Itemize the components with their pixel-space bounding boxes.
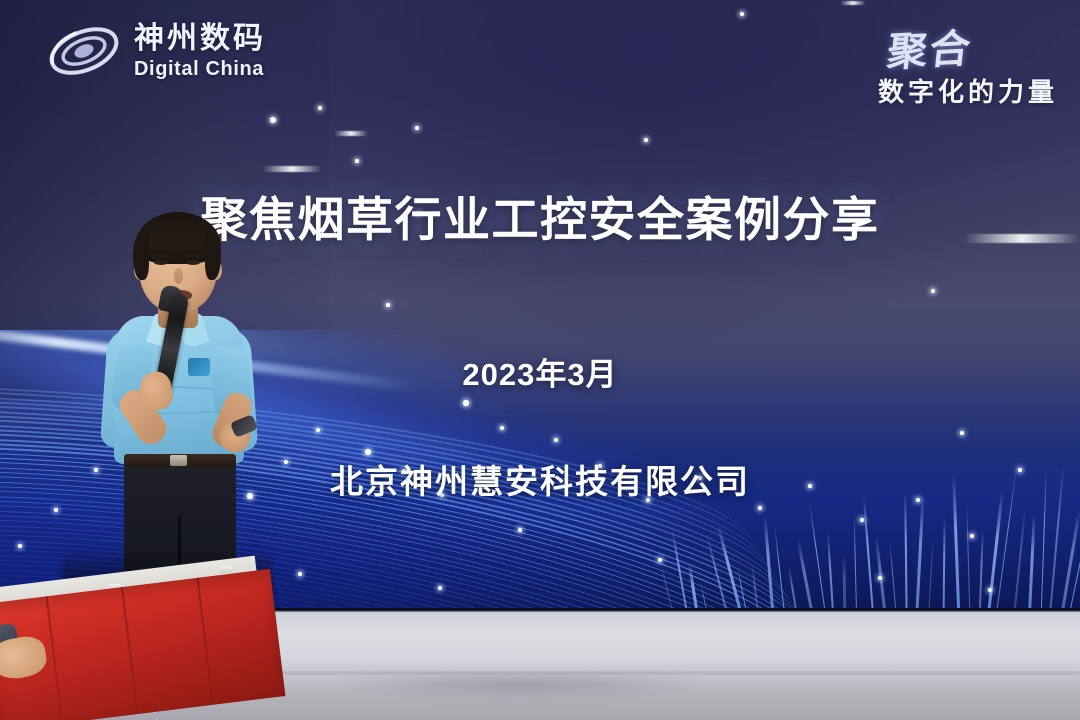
- light-particle: [365, 449, 371, 455]
- light-particle: [355, 159, 358, 162]
- presenter-right-eye: [186, 260, 200, 265]
- light-particle: [298, 572, 302, 576]
- presenter-left-eye: [154, 260, 168, 265]
- conference-stage-photo: 神州数码 Digital China 聚合 数字化的力量 聚焦烟草行业工控安全案…: [0, 0, 1080, 720]
- presenter-hair-right: [205, 232, 221, 280]
- light-particle: [878, 576, 882, 580]
- polo-chest-logo: [188, 358, 210, 376]
- digital-china-name-en: Digital China: [134, 59, 266, 79]
- light-streak: [840, 1, 866, 5]
- light-particle: [463, 400, 468, 405]
- presenter-hair-left: [133, 232, 149, 280]
- light-particle: [18, 544, 22, 548]
- light-particle: [644, 138, 648, 142]
- light-particle: [554, 438, 558, 442]
- light-particle: [318, 106, 322, 110]
- presenter-nose: [174, 268, 183, 284]
- light-particle: [518, 528, 522, 532]
- skirt-pleat: [46, 596, 64, 720]
- skirt-pleat: [121, 587, 139, 714]
- floor-smudge: [330, 674, 710, 700]
- light-particle: [386, 303, 389, 306]
- juhe-event-logo: 聚合 数字化的力量: [878, 18, 1058, 109]
- skirt-pleat: [196, 578, 214, 705]
- light-particle: [316, 428, 320, 432]
- light-streak: [262, 166, 322, 172]
- digital-china-swirl-icon: [46, 20, 122, 82]
- light-particle: [758, 506, 762, 510]
- juhe-calligraphy: 聚合: [885, 16, 976, 78]
- digital-china-name-cn: 神州数码: [134, 24, 266, 54]
- bottle-cap: [220, 566, 232, 573]
- foreground-table: [0, 560, 262, 720]
- digital-china-logo: 神州数码 Digital China: [46, 20, 266, 82]
- belt-buckle: [170, 455, 187, 466]
- presenter-right-brow: [185, 254, 202, 258]
- light-particle: [270, 117, 276, 123]
- juhe-tagline: 数字化的力量: [878, 72, 1058, 109]
- light-particle: [960, 431, 964, 435]
- light-particle: [415, 126, 419, 130]
- presenter-left-brow: [152, 254, 169, 258]
- light-streak: [334, 131, 368, 136]
- light-particle: [438, 586, 442, 590]
